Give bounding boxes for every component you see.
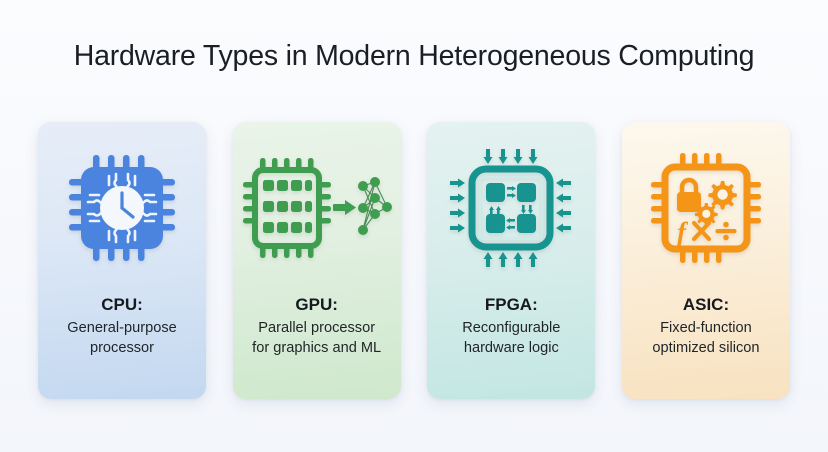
gpu-card-desc-line1: Parallel processor: [237, 318, 397, 338]
fpga-card-text: FPGA: Reconfigurable hardware logic: [427, 294, 595, 358]
cpu-card-text: CPU: General-purpose processor: [38, 294, 206, 358]
asic-icon-container: f: [622, 122, 790, 294]
cpu-icon-container: [38, 122, 206, 294]
fpga-card-desc-line2: hardware logic: [431, 338, 591, 358]
hardware-card-cpu[interactable]: CPU: General-purpose processor: [38, 122, 206, 399]
cpu-card-desc-line1: General-purpose: [42, 318, 202, 338]
asic-card-desc-line1: Fixed-function: [626, 318, 786, 338]
hardware-card-row: CPU: General-purpose processor: [38, 122, 790, 399]
page-title: Hardware Types in Modern Heterogeneous C…: [0, 36, 828, 76]
gear-icon-small: [695, 203, 718, 226]
multiply-symbol: [694, 223, 709, 239]
fpga-icon-container: [427, 122, 595, 294]
fpga-card-label: FPGA:: [431, 294, 591, 316]
asic-card-text: ASIC: Fixed-function optimized silicon: [622, 294, 790, 358]
infographic-page: Hardware Types in Modern Heterogeneous C…: [0, 0, 828, 452]
cpu-clock-chip-icon: [63, 149, 181, 267]
fpga-input-arrows-left: [450, 179, 465, 233]
cpu-card-label: CPU:: [42, 294, 202, 316]
hardware-card-asic[interactable]: f ASIC: Fixed-function optimized silicon: [622, 122, 790, 399]
asic-card-label: ASIC:: [626, 294, 786, 316]
fpga-input-arrows-right: [556, 179, 571, 233]
asic-card-desc-line2: optimized silicon: [626, 338, 786, 358]
fpga-reconfigurable-blocks-icon: [448, 147, 574, 269]
fpga-card-desc-line1: Reconfigurable: [431, 318, 591, 338]
gpu-arrow-icon: [333, 200, 356, 215]
hardware-card-fpga[interactable]: FPGA: Reconfigurable hardware logic: [427, 122, 595, 399]
gpu-icon-container: [233, 122, 401, 294]
cpu-card-desc-line2: processor: [42, 338, 202, 358]
fpga-input-arrows-top: [484, 149, 538, 164]
gpu-card-text: GPU: Parallel processor for graphics and…: [233, 294, 401, 358]
gpu-core-grid-neural-network-icon: [241, 156, 393, 260]
gear-icon-large: [708, 181, 736, 209]
gpu-card-label: GPU:: [237, 294, 397, 316]
divide-symbol: [715, 222, 736, 241]
function-symbol: f: [677, 217, 689, 247]
hardware-card-gpu[interactable]: GPU: Parallel processor for graphics and…: [233, 122, 401, 399]
asic-lock-gears-math-chip-icon: f: [647, 149, 765, 267]
gpu-card-desc-line2: for graphics and ML: [237, 338, 397, 358]
fpga-input-arrows-bottom: [484, 252, 538, 267]
